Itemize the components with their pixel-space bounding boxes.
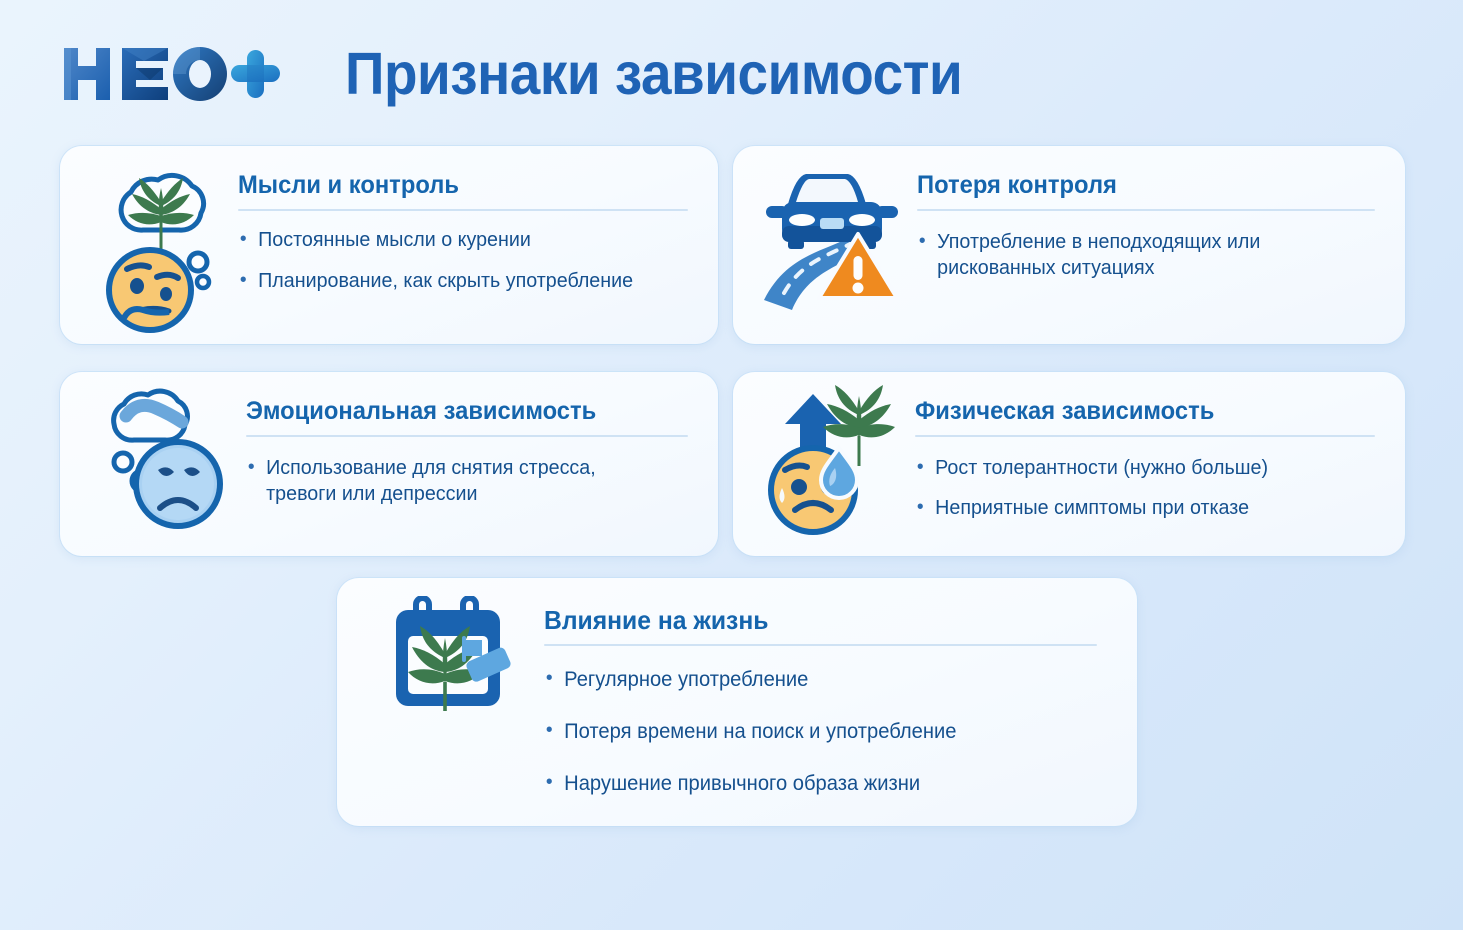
heading-divider	[544, 644, 1097, 646]
car-road-warning-icon	[733, 146, 907, 320]
card-content: Влияние на жизнь Регулярное употребление…	[530, 578, 1137, 822]
bullet-list: Постоянные мысли о курении Планирование,…	[238, 227, 688, 295]
list-item: Рост толерантности (нужно больше)	[915, 455, 1357, 482]
card-content: Потеря контроля Употребление в неподходя…	[907, 146, 1405, 290]
card-heading: Мысли и контроль	[238, 172, 666, 200]
card-loss-of-control: Потеря контроля Употребление в неподходя…	[733, 146, 1405, 344]
card-physical-dependence: Физическая зависимость Рост толерантност…	[733, 372, 1405, 556]
card-impact-on-life: Влияние на жизнь Регулярное употребление…	[337, 578, 1137, 826]
card-emotional-dependence: Эмоциональная зависимость Использование …	[60, 372, 718, 556]
bullet-list: Употребление в неподходящих или рискован…	[917, 229, 1375, 282]
list-item: Регулярное употребление	[544, 666, 1075, 693]
card-thoughts-and-control: Мысли и контроль Постоянные мысли о куре…	[60, 146, 718, 344]
card-heading: Потеря контроля	[917, 172, 1352, 200]
list-item: Нарушение привычного образа жизни	[544, 770, 1075, 797]
calendar-cannabis-icon	[337, 578, 530, 711]
card-heading: Физическая зависимость	[915, 398, 1352, 426]
list-item: Планирование, как скрыть употребление	[238, 268, 670, 295]
sad-face-thought-bubble-icon	[60, 372, 240, 538]
bullet-list: Использование для снятия стресса, тревог…	[246, 455, 688, 508]
card-heading: Влияние на жизнь	[544, 606, 1069, 635]
page-header: Признаки зависимости	[0, 0, 1463, 140]
card-content: Эмоциональная зависимость Использование …	[240, 372, 718, 516]
bullet-list: Регулярное употребление Потеря времени н…	[544, 666, 1097, 798]
heading-divider	[915, 435, 1375, 437]
list-item: Использование для снятия стресса, тревог…	[246, 455, 670, 508]
list-item: Неприятные симптомы при отказе	[915, 495, 1357, 522]
page-title: Признаки зависимости	[345, 40, 962, 108]
list-item: Потеря времени на поиск и употребление	[544, 718, 1075, 745]
bullet-list: Рост толерантности (нужно больше) Неприя…	[915, 455, 1375, 522]
heading-divider	[238, 209, 688, 211]
arrow-up-cannabis-sweating-face-icon	[733, 372, 905, 537]
neo-plus-logo	[60, 42, 290, 106]
card-content: Физическая зависимость Рост толерантност…	[905, 372, 1405, 536]
card-content: Мысли и контроль Постоянные мысли о куре…	[232, 146, 718, 310]
heading-divider	[246, 435, 688, 437]
heading-divider	[917, 209, 1375, 211]
thinking-face-cannabis-thought-icon	[60, 146, 232, 339]
card-heading: Эмоциональная зависимость	[246, 398, 666, 426]
list-item: Постоянные мысли о курении	[238, 227, 670, 254]
list-item: Употребление в неподходящих или рискован…	[917, 229, 1357, 282]
